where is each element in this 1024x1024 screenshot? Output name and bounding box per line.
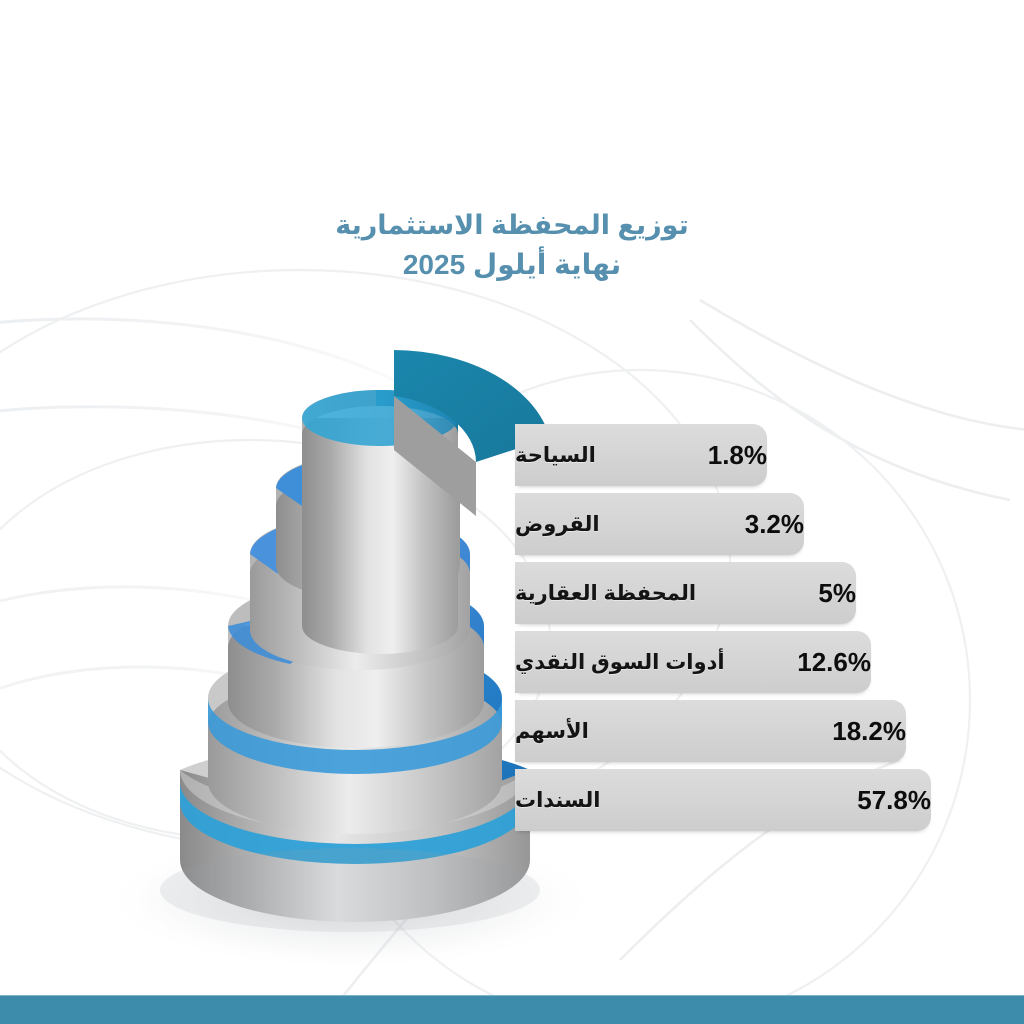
chart-legend: 1.8% السياحة 3.2% القروض 5% المحفظة العق…	[515, 424, 955, 838]
chart-title-line-2: نهاية أيلول 2025	[0, 245, 1024, 284]
legend-row-tourism[interactable]: 1.8% السياحة	[515, 424, 767, 486]
legend-row-stocks[interactable]: 18.2% الأسهم	[515, 700, 906, 762]
chart-title-block: توزيع المحفظة الاستثمارية نهاية أيلول 20…	[0, 206, 1024, 284]
legend-percent: 3.2%	[745, 509, 804, 540]
chart-title-line-1: توزيع المحفظة الاستثمارية	[0, 206, 1024, 245]
legend-percent: 12.6%	[797, 647, 871, 678]
legend-percent: 1.8%	[708, 440, 767, 471]
legend-row-bonds[interactable]: 57.8% السندات	[515, 769, 931, 831]
legend-label: أدوات السوق النقدي	[515, 650, 741, 675]
infographic-canvas: توزيع المحفظة الاستثمارية نهاية أيلول 20…	[0, 0, 1024, 1024]
legend-label: المحفظة العقارية	[515, 581, 712, 606]
legend-label: الأسهم	[515, 719, 605, 744]
legend-percent: 18.2%	[832, 716, 906, 747]
legend-row-money-market[interactable]: 12.6% أدوات السوق النقدي	[515, 631, 871, 693]
legend-label: السياحة	[515, 443, 612, 468]
footer-bar	[0, 995, 1024, 1024]
legend-label: السندات	[515, 788, 616, 813]
footer-hairline	[0, 995, 1024, 996]
cylinder-tier-tourism	[302, 349, 550, 654]
legend-percent: 57.8%	[857, 785, 931, 816]
legend-label: القروض	[515, 512, 616, 537]
legend-percent: 5%	[818, 578, 856, 609]
legend-row-loans[interactable]: 3.2% القروض	[515, 493, 804, 555]
legend-row-real-estate[interactable]: 5% المحفظة العقارية	[515, 562, 856, 624]
